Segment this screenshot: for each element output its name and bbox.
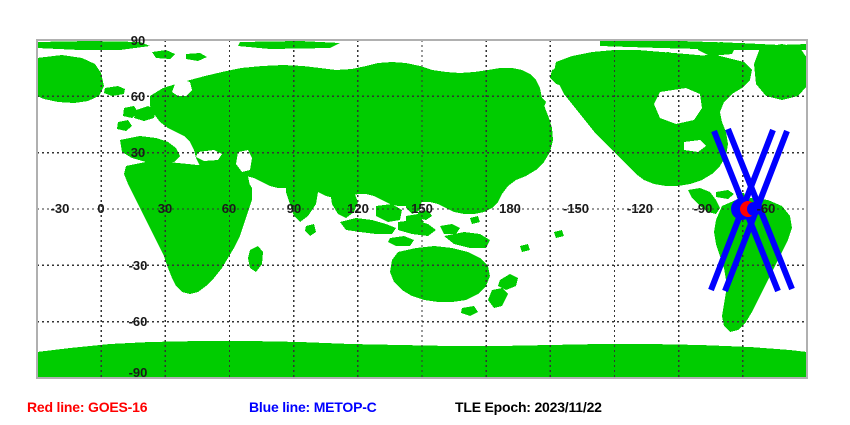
lon-label-60: 60 [222, 201, 236, 216]
lat-label-90: 90 [131, 33, 145, 48]
lon-label--90: -90 [694, 201, 713, 216]
world-map-svg: -30 0 30 60 90 120 150 180 -150 -120 -90… [0, 0, 850, 388]
lon-label-150: 150 [411, 201, 433, 216]
lat-label--60: -60 [129, 314, 148, 329]
lon-label--30: -30 [51, 201, 70, 216]
lon-label--120: -120 [627, 201, 653, 216]
legend-goes-16: Red line: GOES-16 [27, 399, 147, 415]
legend-tle-epoch: TLE Epoch: 2023/11/22 [455, 399, 602, 415]
world-map-panel: -30 0 30 60 90 120 150 180 -150 -120 -90… [0, 0, 850, 388]
lat-label-30: 30 [131, 145, 145, 160]
lon-label-30: 30 [158, 201, 172, 216]
satellite-ground-track-app: -30 0 30 60 90 120 150 180 -150 -120 -90… [0, 0, 850, 425]
legend-bar: Red line: GOES-16 Blue line: METOP-C TLE… [0, 388, 850, 425]
lon-label--150: -150 [563, 201, 589, 216]
lon-label-120: 120 [347, 201, 369, 216]
lon-label-0: 0 [97, 201, 104, 216]
lon-label--60: -60 [757, 201, 776, 216]
lat-label--90: -90 [129, 365, 148, 380]
lat-label-60: 60 [131, 89, 145, 104]
legend-metop-c: Blue line: METOP-C [249, 399, 377, 415]
lat-label--30: -30 [129, 258, 148, 273]
lon-label-180: 180 [499, 201, 521, 216]
lon-label-90: 90 [287, 201, 301, 216]
